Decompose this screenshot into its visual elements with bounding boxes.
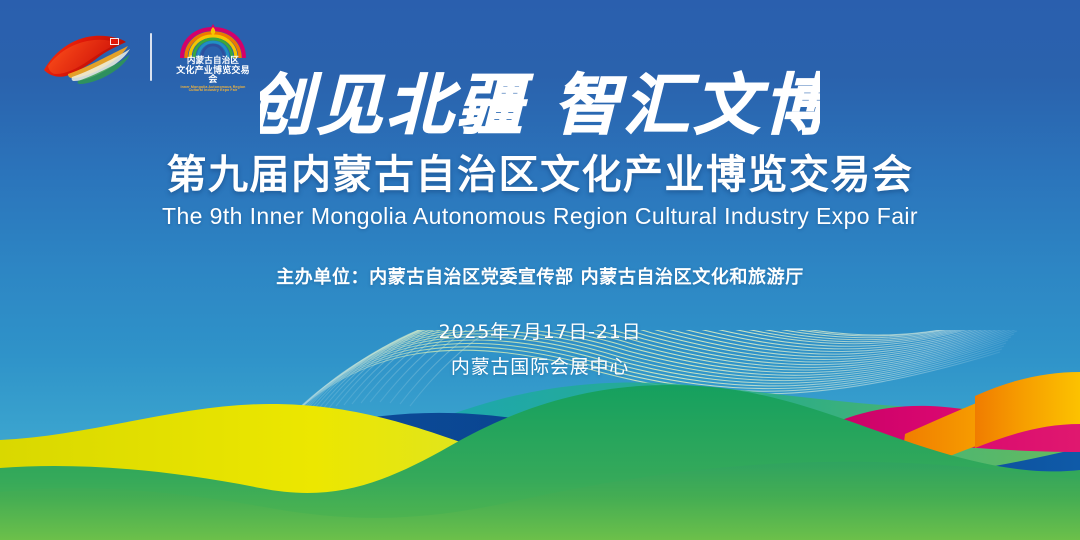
page-title-cn: 第九届内蒙古自治区文化产业博览交易会 [0,152,1080,198]
calligraphy-slogan-art: 创见北疆 智汇文博 [260,58,820,154]
expo-poster: 内蒙古自治区 文化产业博览交易会 Inner Mongolia Autonomo… [0,0,1080,540]
page-title-en: The 9th Inner Mongolia Autonomous Region… [0,203,1080,230]
calligraphy-slogan: 创见北疆 智汇文博 [0,58,1080,154]
mongolian-yurt-arch-rainbow-icon [174,24,252,58]
calligraphy-slogan-text: 创见北疆 智汇文博 [260,67,820,144]
organizer-line: 主办单位：内蒙古自治区党委宣传部 内蒙古自治区文化和旅游厅 [0,263,1080,289]
event-date: 2025年7月17日-21日 [0,317,1080,344]
event-venue: 内蒙古国际会展中心 [0,352,1080,379]
